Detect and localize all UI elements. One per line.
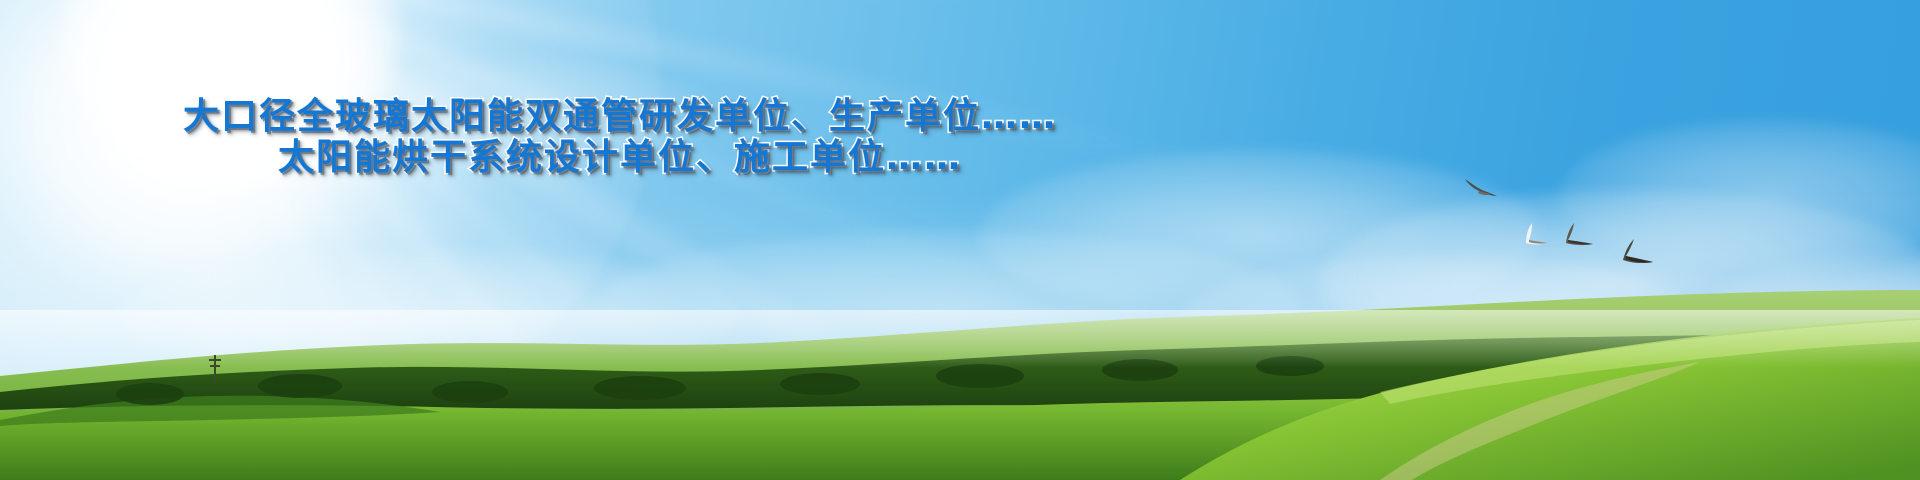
bird-icon [1618, 238, 1658, 266]
headline-line-2: 太阳能烘干系统设计单位、施工单位…… [0, 137, 1240, 178]
utility-pole-icon [208, 353, 222, 388]
headline-line-1: 大口径全玻璃太阳能双通管研发单位、生产单位…… [0, 96, 1240, 137]
bird-icon [1520, 222, 1554, 248]
green-hill-icon [0, 280, 1920, 480]
hero-banner: 大口径全玻璃太阳能双通管研发单位、生产单位…… 太阳能烘干系统设计单位、施工单位… [0, 0, 1920, 480]
bird-icon [1560, 222, 1598, 248]
bird-icon [1463, 176, 1499, 200]
headline-block: 大口径全玻璃太阳能双通管研发单位、生产单位…… 太阳能烘干系统设计单位、施工单位… [0, 96, 1240, 179]
